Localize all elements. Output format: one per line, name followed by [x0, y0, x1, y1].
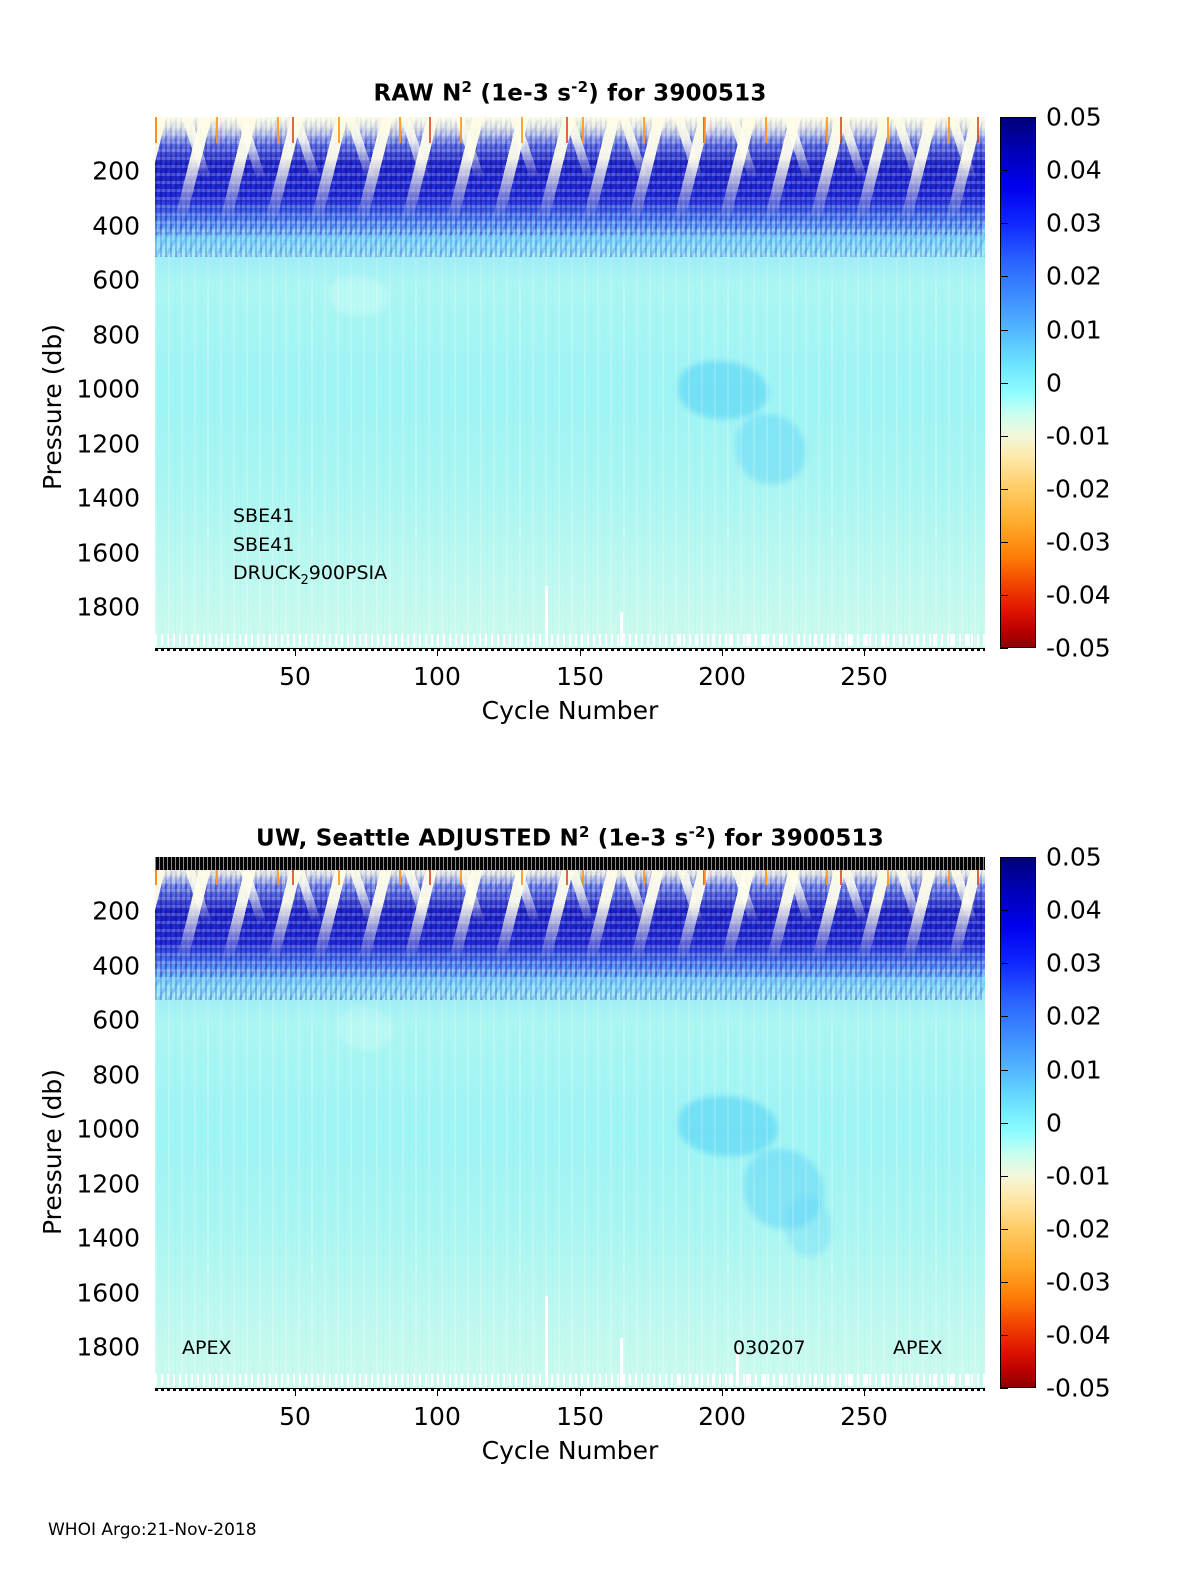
y-tick-600-raw: 600: [70, 268, 140, 293]
cbar-tickmark--0.02-adj: [1000, 1229, 1008, 1230]
cbar-tickmark--0.05-raw: [1000, 648, 1008, 649]
x-tick-mark-150-raw: [580, 649, 581, 656]
cbar-tickmark--0.01-adj: [1000, 1176, 1008, 1177]
cbar-tickmark-0.03-adj: [1000, 963, 1008, 964]
missing-profile-gap-adj: [545, 1296, 548, 1386]
cbar-tickmark-0-adj: [1000, 1123, 1008, 1124]
cbar-label--0.02-raw: -0.02: [1046, 477, 1111, 502]
cbar-label-0-raw: 0: [1046, 371, 1062, 396]
annotation-druck-sub: 2: [300, 573, 308, 588]
cbar-tickmark--0.02-raw: [1000, 489, 1008, 490]
y-tick-1200-adj: 1200: [70, 1172, 140, 1197]
cbar-tickmark--0.04-adj: [1000, 1335, 1008, 1336]
cbar-label-0.03-raw: 0.03: [1046, 211, 1102, 236]
cbar-label--0.03-adj: -0.03: [1046, 1270, 1111, 1295]
y-tick-200-raw: 200: [70, 159, 140, 184]
cbar-tickmark-0.03-raw: [1000, 223, 1008, 224]
surface-warm-speckles-raw: [155, 117, 985, 143]
annotation-druck-text: DRUCK: [233, 562, 300, 584]
annotation-platform-left-adj: APEX: [182, 1337, 231, 1359]
y-tick-1000-raw: 1000: [70, 377, 140, 402]
title-sup-adj: 2: [579, 823, 590, 841]
x-axis-label-adj: Cycle Number: [155, 1436, 985, 1465]
y-tick-400-adj: 400: [70, 954, 140, 979]
cbar-label-0.03-adj: 0.03: [1046, 951, 1102, 976]
cbar-label--0.03-raw: -0.03: [1046, 530, 1111, 555]
y-tick-200-adj: 200: [70, 899, 140, 924]
x-tick-50-adj: 50: [250, 1402, 340, 1431]
panel-adjusted: UW, Seattle ADJUSTED N2 (1e-3 s-2) for 3…: [0, 745, 1200, 1490]
cbar-tickmark--0.01-raw: [1000, 436, 1008, 437]
cbar-tickmark-0.05-adj: [1000, 857, 1008, 858]
missing-profile-gap-raw: [545, 586, 548, 646]
bottom-depth-dashline-raw: [155, 649, 985, 651]
cbar-label--0.04-adj: -0.04: [1046, 1323, 1111, 1348]
annotation-sensor-2-raw: SBE41: [233, 534, 294, 556]
cbar-tickmark-0.01-adj: [1000, 1070, 1008, 1071]
cbar-label-0.02-raw: 0.02: [1046, 264, 1102, 289]
x-tick-200-raw: 200: [677, 662, 767, 691]
y-tick-1600-raw: 1600: [70, 541, 140, 566]
cbar-tickmark--0.04-raw: [1000, 595, 1008, 596]
cbar-label-0.05-adj: 0.05: [1046, 845, 1102, 870]
x-tick-250-adj: 250: [819, 1402, 909, 1431]
cbar-label--0.04-raw: -0.04: [1046, 583, 1111, 608]
cbar-label-0-adj: 0: [1046, 1111, 1062, 1136]
y-tick-1600-adj: 1600: [70, 1281, 140, 1306]
panel-raw: RAW N2 (1e-3 s-2) for 3900513 Pressure (…: [0, 0, 1200, 760]
cbar-tickmark-0.01-raw: [1000, 330, 1008, 331]
cbar-tickmark-0-raw: [1000, 383, 1008, 384]
cbar-label-0.04-adj: 0.04: [1046, 898, 1102, 923]
bottom-depth-dashline-adj: [155, 1389, 985, 1391]
cbar-label--0.01-raw: -0.01: [1046, 424, 1111, 449]
annotation-pressure-sensor-raw: DRUCK2900PSIA: [233, 562, 387, 588]
cbar-tickmark-0.02-adj: [1000, 1016, 1008, 1017]
cbar-label-0.02-adj: 0.02: [1046, 1004, 1102, 1029]
title-sup2-adj: -2: [689, 823, 706, 841]
x-tick-50-raw: 50: [250, 662, 340, 691]
title-mid-adj: (1e-3 s: [590, 826, 689, 852]
y-tick-1800-adj: 1800: [70, 1335, 140, 1360]
title-text-adj: UW, Seattle ADJUSTED N: [256, 826, 579, 852]
cbar-label-0.01-raw: 0.01: [1046, 318, 1102, 343]
cbar-label-0.04-raw: 0.04: [1046, 158, 1102, 183]
transition-fade-raw: [155, 235, 985, 287]
annotation-sensor-1-raw: SBE41: [233, 505, 294, 527]
x-tick-mark-250-adj: [864, 1389, 865, 1396]
x-axis-label-raw: Cycle Number: [155, 696, 985, 725]
y-tick-1200-raw: 1200: [70, 432, 140, 457]
x-tick-100-adj: 100: [392, 1402, 482, 1431]
x-tick-150-raw: 150: [535, 662, 625, 691]
x-tick-mark-200-adj: [722, 1389, 723, 1396]
y-tick-600-adj: 600: [70, 1008, 140, 1033]
y-tick-800-raw: 800: [70, 323, 140, 348]
y-tick-1400-adj: 1400: [70, 1226, 140, 1251]
x-tick-100-raw: 100: [392, 662, 482, 691]
cbar-tickmark--0.05-adj: [1000, 1388, 1008, 1389]
y-tick-1800-raw: 1800: [70, 595, 140, 620]
missing-profile-gap2-raw: [620, 612, 623, 646]
cbar-label--0.05-adj: -0.05: [1046, 1376, 1111, 1401]
bottom-missing-comb-sparse-raw: [678, 634, 985, 646]
panel-adjusted-title: UW, Seattle ADJUSTED N2 (1e-3 s-2) for 3…: [155, 823, 985, 852]
transition-fade-adj: [155, 977, 985, 1025]
x-tick-mark-150-adj: [580, 1389, 581, 1396]
panel-raw-title: RAW N2 (1e-3 s-2) for 3900513: [155, 78, 985, 107]
x-tick-mark-250-raw: [864, 649, 865, 656]
title-end-adj: ) for 3900513: [706, 826, 884, 852]
bottom-missing-comb-sparse-adj: [678, 1374, 985, 1386]
y-tick-800-adj: 800: [70, 1063, 140, 1088]
cbar-label--0.01-adj: -0.01: [1046, 1164, 1111, 1189]
y-tick-400-raw: 400: [70, 214, 140, 239]
title-sup-raw: 2: [462, 78, 473, 96]
y-tick-1400-raw: 1400: [70, 486, 140, 511]
annotation-druck-after: 900PSIA: [309, 562, 387, 584]
title-sup2-raw: -2: [571, 78, 588, 96]
y-tick-1000-adj: 1000: [70, 1117, 140, 1142]
annotation-platform-right-adj: APEX: [893, 1337, 942, 1359]
cbar-tickmark-0.05-raw: [1000, 117, 1008, 118]
argo-n2-figure: RAW N2 (1e-3 s-2) for 3900513 Pressure (…: [0, 0, 1200, 1575]
y-axis-label-adj: Pressure (db): [38, 1069, 67, 1235]
x-tick-mark-50-raw: [295, 649, 296, 656]
cbar-label--0.05-raw: -0.05: [1046, 636, 1111, 661]
heatmap-adjusted: [155, 857, 985, 1389]
figure-footer: WHOI Argo:21-Nov-2018: [48, 1520, 257, 1540]
cbar-label-0.01-adj: 0.01: [1046, 1058, 1102, 1083]
title-text-raw: RAW N: [373, 81, 461, 107]
annotation-wmo-code-adj: 030207: [733, 1337, 806, 1359]
cbar-label-0.05-raw: 0.05: [1046, 105, 1102, 130]
cbar-tickmark--0.03-raw: [1000, 542, 1008, 543]
cbar-tickmark--0.03-adj: [1000, 1282, 1008, 1283]
y-axis-label-raw: Pressure (db): [38, 324, 67, 490]
title-end-raw: ) for 3900513: [588, 81, 766, 107]
cbar-tickmark-0.04-adj: [1000, 910, 1008, 911]
x-tick-mark-50-adj: [295, 1389, 296, 1396]
title-mid-raw: (1e-3 s: [472, 81, 571, 107]
x-tick-250-raw: 250: [819, 662, 909, 691]
missing-profile-gap2-adj: [620, 1338, 623, 1386]
x-tick-150-adj: 150: [535, 1402, 625, 1431]
x-tick-200-adj: 200: [677, 1402, 767, 1431]
x-tick-mark-100-adj: [437, 1389, 438, 1396]
cbar-label--0.02-adj: -0.02: [1046, 1217, 1111, 1242]
cycle-marker-strip-adj: [155, 857, 985, 870]
x-tick-mark-100-raw: [437, 649, 438, 656]
cbar-tickmark-0.04-raw: [1000, 170, 1008, 171]
x-tick-mark-200-raw: [722, 649, 723, 656]
cbar-tickmark-0.02-raw: [1000, 276, 1008, 277]
